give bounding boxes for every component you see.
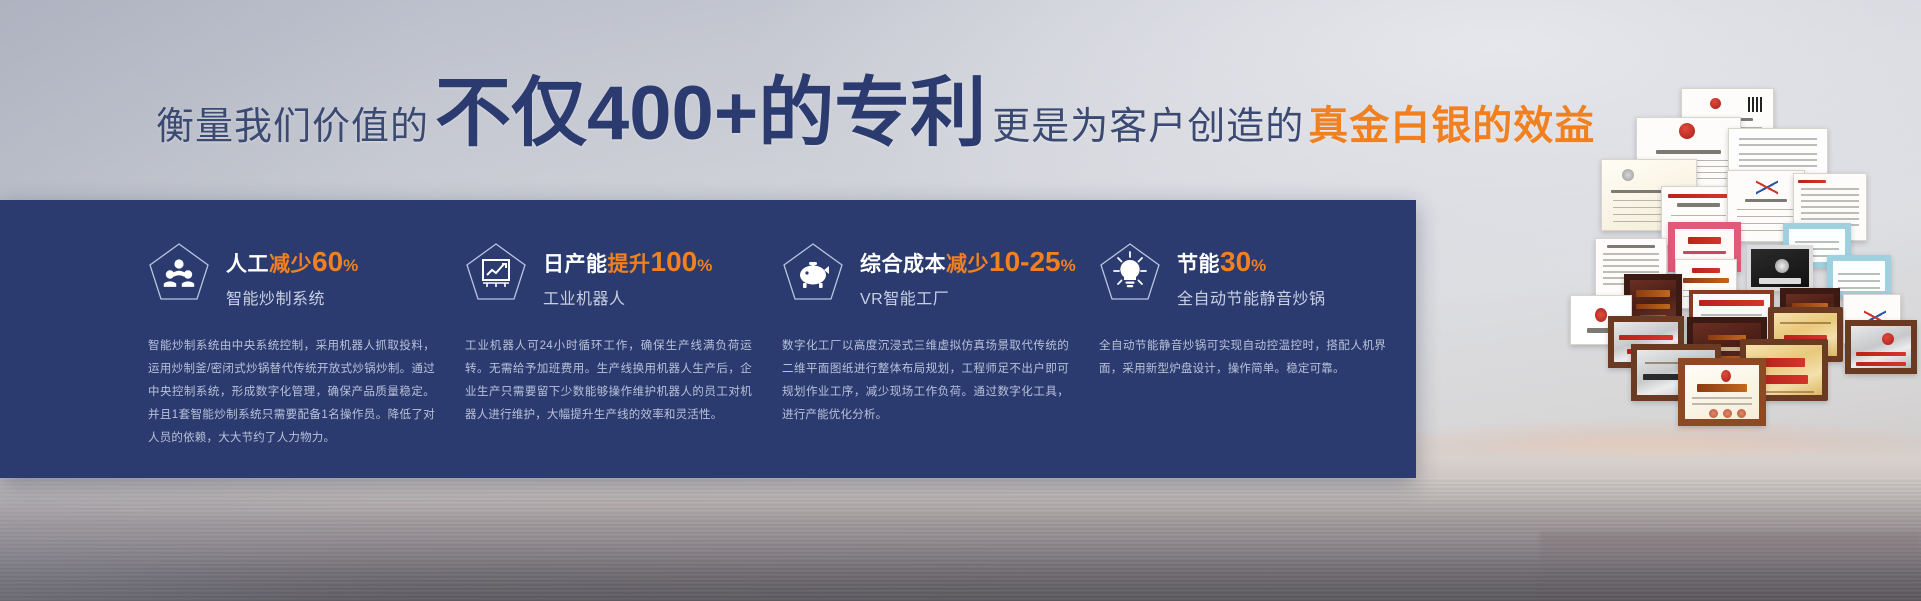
feature-title-unit: % — [343, 256, 359, 275]
feature-title-plain: 综合成本 — [860, 253, 946, 276]
feature-item: 日产能提升100% 工业机器人 工业机器人可24小时循环工作，确保生产线满负荷运… — [465, 200, 782, 478]
certificate-award-stack — [1540, 62, 1921, 532]
feature-title-number: 10-25 — [989, 246, 1061, 277]
feature-title-keyword: 减少 — [269, 253, 312, 276]
banner-stage: 衡量我们价值的 不仅400+的专利 更是为客户创造的 真金白银的效益 — [0, 0, 1921, 601]
headline-accent: 真金白银的效益 — [1308, 93, 1595, 151]
certificate-stack-reflection — [1540, 532, 1921, 601]
feature-title-unit: % — [697, 256, 713, 275]
award-plaque — [1845, 320, 1917, 374]
features-panel: 人工减少60% 智能炒制系统 智能炒制系统由中央系统控制，采用机器人抓取投料，运… — [0, 200, 1416, 478]
feature-title-unit: % — [1251, 256, 1267, 275]
feature-subtitle: 全自动节能静音炒锅 — [1177, 285, 1326, 309]
feature-item: 综合成本减少10-25% VR智能工厂 数字化工厂以高度沉浸式三维虚拟仿真场景取… — [782, 200, 1099, 478]
lightbulb-icon — [1099, 242, 1161, 302]
feature-body: 工业机器人可24小时循环工作，确保生产线满负荷运转。无需给予加班费用。生产线换用… — [465, 335, 752, 427]
feature-title-unit: % — [1061, 256, 1077, 275]
people-group-icon — [148, 242, 210, 302]
feature-title-number: 100 — [651, 246, 698, 277]
feature-title-keyword: 减少 — [946, 253, 989, 276]
feature-title: 综合成本减少10-25% — [860, 246, 1076, 278]
feature-title-number: 30 — [1220, 246, 1251, 277]
piggy-bank-icon — [782, 242, 844, 302]
headline-mid: 更是为客户创造的 — [992, 95, 1304, 150]
certificate-item — [1747, 245, 1813, 291]
feature-body: 智能炒制系统由中央系统控制，采用机器人抓取投料，运用炒制釜/密闭式炒锅替代传统开… — [148, 335, 435, 450]
feature-title-plain: 日产能 — [543, 253, 608, 276]
chart-easel-icon — [465, 242, 527, 302]
feature-body: 全自动节能静音炒锅可实现自动控温控时，搭配人机界面，采用新型炉盘设计，操作简单。… — [1099, 335, 1386, 381]
feature-item: 节能30% 全自动节能静音炒锅 全自动节能静音炒锅可实现自动控温控时，搭配人机界… — [1099, 200, 1416, 478]
feature-title: 日产能提升100% — [543, 246, 713, 278]
headline-lead: 衡量我们价值的 — [156, 95, 429, 150]
feature-title: 节能30% — [1177, 246, 1326, 278]
feature-item: 人工减少60% 智能炒制系统 智能炒制系统由中央系统控制，采用机器人抓取投料，运… — [148, 200, 465, 478]
feature-title-keyword: 提升 — [608, 253, 651, 276]
feature-subtitle: VR智能工厂 — [860, 285, 1076, 309]
feature-title-number: 60 — [312, 246, 343, 277]
feature-title: 人工减少60% — [226, 246, 359, 278]
feature-body: 数字化工厂以高度沉浸式三维虚拟仿真场景取代传统的二维平面图纸进行整体布局规划，工… — [782, 335, 1069, 427]
feature-title-plain: 节能 — [1177, 253, 1220, 276]
feature-subtitle: 工业机器人 — [543, 285, 713, 309]
headline-strong: 不仅400+的专利 — [435, 78, 986, 150]
certificate-item — [1678, 358, 1766, 426]
page-headline: 衡量我们价值的 不仅400+的专利 更是为客户创造的 真金白银的效益 — [156, 78, 1595, 151]
feature-title-plain: 人工 — [226, 253, 269, 276]
feature-subtitle: 智能炒制系统 — [226, 285, 359, 309]
